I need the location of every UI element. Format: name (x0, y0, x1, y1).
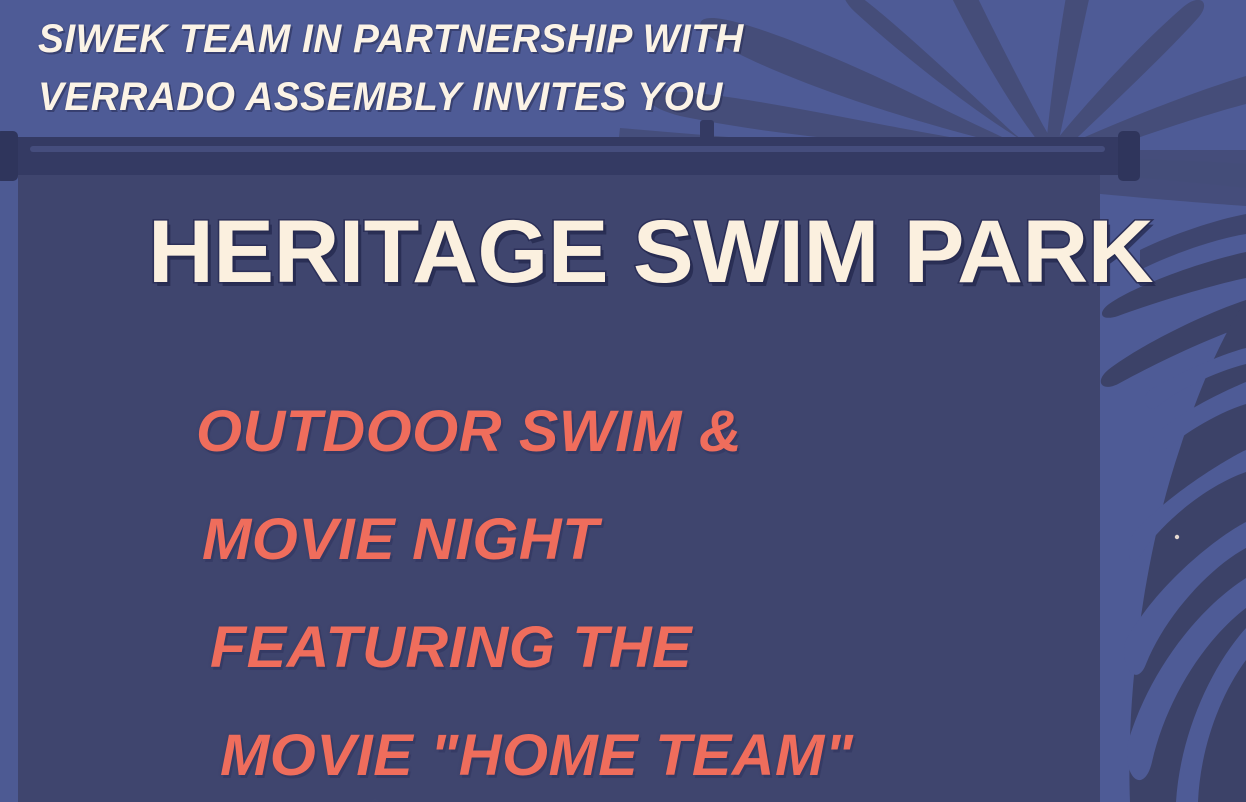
body-line-2: MOVIE NIGHT (202, 486, 1114, 594)
body-text-block: OUTDOOR SWIM & MOVIE NIGHT FEATURING THE… (196, 378, 1096, 802)
body-line-1: OUTDOOR SWIM & (196, 378, 1114, 486)
banner-left-edge-strip (0, 150, 18, 802)
kicker-line-1: SIWEK TEAM IN PARTNERSHIP WITH (38, 10, 717, 68)
banner-rod-highlight (30, 146, 1105, 152)
page-title: HERITAGE SWIM PARK (148, 204, 1153, 300)
banner-rod-cap-right (1118, 131, 1140, 181)
palm-frond-bottom-right-icon (1124, 300, 1246, 802)
banner-rod (0, 137, 1140, 175)
poster-canvas: SIWEK TEAM IN PARTNERSHIP WITH VERRADO A… (0, 0, 1246, 802)
kicker-line-2: VERRADO ASSEMBLY INVITES YOU (38, 68, 717, 126)
banner-rod-cap-left (0, 131, 18, 181)
kicker-text-block: SIWEK TEAM IN PARTNERSHIP WITH VERRADO A… (38, 10, 738, 126)
body-line-3: FEATURING THE (210, 594, 1114, 702)
body-line-4: MOVIE "HOME TEAM" (220, 702, 1114, 802)
